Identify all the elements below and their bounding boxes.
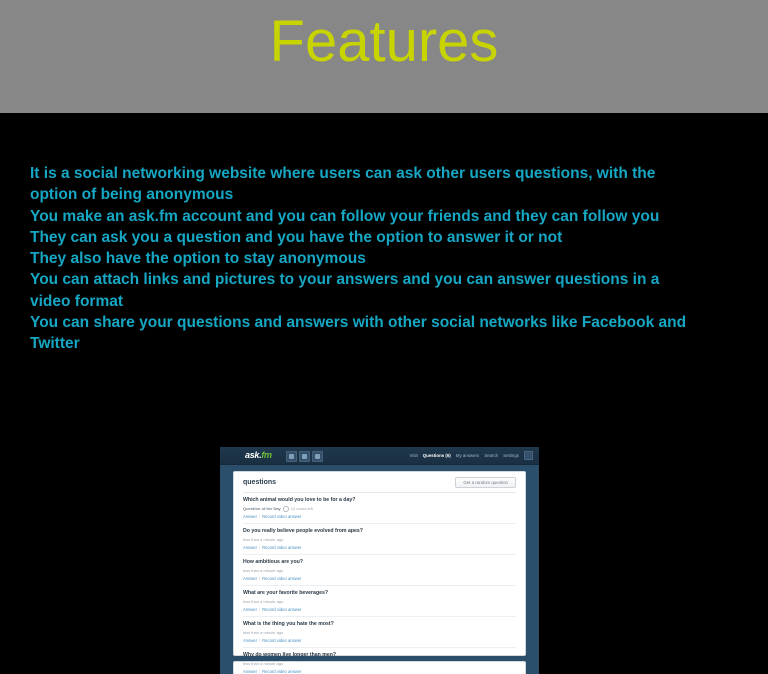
logo-text-primary: ask. [245,450,261,460]
answer-link[interactable]: Answer [243,514,257,519]
answer-link[interactable]: Answer [243,638,257,643]
list-item: You can share your questions and answers… [30,312,692,355]
list-item: You can attach links and pictures to you… [30,269,692,312]
slide-body: It is a social networking website where … [0,113,768,561]
question-actions: Answer/Record video answer [243,606,516,613]
record-video-answer-link[interactable]: Record video answer [262,607,301,612]
question-row: How ambitious are you? less than a minut… [243,555,516,586]
record-video-answer-link[interactable]: Record video answer [262,545,301,550]
question-time: less than a minute ago [243,598,283,605]
question-actions: Answer/Record video answer [243,513,516,520]
record-video-answer-link[interactable]: Record video answer [262,669,301,674]
nav-item-search[interactable]: Search [484,451,498,460]
question-time: 13 hours left [291,505,313,512]
question-row: What is the thing you hate the most? les… [243,617,516,648]
question-time: less than a minute ago [243,660,283,667]
question-text: Which animal would you love to be for a … [243,497,516,504]
questions-card-header: questions Get a random question [243,472,516,493]
question-meta: less than a minute ago [243,536,516,543]
questions-card: questions Get a random question Which an… [233,471,526,656]
question-time: less than a minute ago [243,567,283,574]
answer-link[interactable]: Answer [243,607,257,612]
feature-bullet-list: It is a social networking website where … [30,163,692,355]
question-meta: less than a minute ago [243,629,516,636]
askfm-logo: ask.fm [245,450,272,460]
question-row: What are your favorite beverages? less t… [243,586,516,617]
question-text: How ambitious are you? [243,559,516,566]
answer-link[interactable]: Answer [243,545,257,550]
slide-header-band: Features [0,0,768,113]
question-text: What are your favorite beverages? [243,590,516,597]
page-title: Features [0,8,768,76]
nav-item-settings[interactable]: Settings [503,451,519,460]
askfm-topbar: ask.fm Visit Questions (6) My answers Se… [220,447,539,465]
question-text: What is the thing you hate the most? [243,621,516,628]
question-row: Do you really believe people evolved fro… [243,524,516,555]
question-actions: Answer/Record video answer [243,637,516,644]
answer-link[interactable]: Answer [243,576,257,581]
questions-heading: questions [243,479,276,486]
answer-link[interactable]: Answer [243,669,257,674]
askfm-icon-button-group [286,451,323,462]
question-meta: less than a minute ago [243,598,516,605]
mail-icon[interactable] [286,451,297,462]
nav-item-visit[interactable]: Visit [410,451,418,460]
askfm-nav: Visit Questions (6) My answers Search Se… [410,451,534,460]
logo-text-accent: fm [261,450,271,460]
record-video-answer-link[interactable]: Record video answer [262,576,301,581]
askfm-page-content: questions Get a random question Which an… [220,465,539,669]
question-meta: Question of the Day 13 hours left [243,505,516,512]
record-video-answer-link[interactable]: Record video answer [262,638,301,643]
question-text: Why do women live longer than men? [243,652,516,659]
question-text: Do you really believe people evolved fro… [243,528,516,535]
clock-icon [283,506,289,512]
question-time: less than a minute ago [243,629,283,636]
question-row: Which animal would you love to be for a … [243,493,516,524]
record-video-answer-link[interactable]: Record video answer [262,514,301,519]
question-time: less than a minute ago [243,536,283,543]
list-item: They also have the option to stay anonym… [30,248,692,269]
list-item: They can ask you a question and you have… [30,227,692,248]
logout-icon[interactable] [524,451,533,460]
bell-icon[interactable] [299,451,310,462]
question-of-the-day-badge: Question of the Day [243,505,281,512]
get-random-question-button[interactable]: Get a random question [455,477,516,488]
question-meta: less than a minute ago [243,567,516,574]
nav-item-my-answers[interactable]: My answers [456,451,479,460]
list-item: You make an ask.fm account and you can f… [30,206,692,227]
question-actions: Answer/Record video answer [243,575,516,582]
list-item: It is a social networking website where … [30,163,692,206]
nav-item-questions[interactable]: Questions (6) [423,451,451,460]
question-actions: Answer/Record video answer [243,544,516,551]
compose-icon[interactable] [312,451,323,462]
